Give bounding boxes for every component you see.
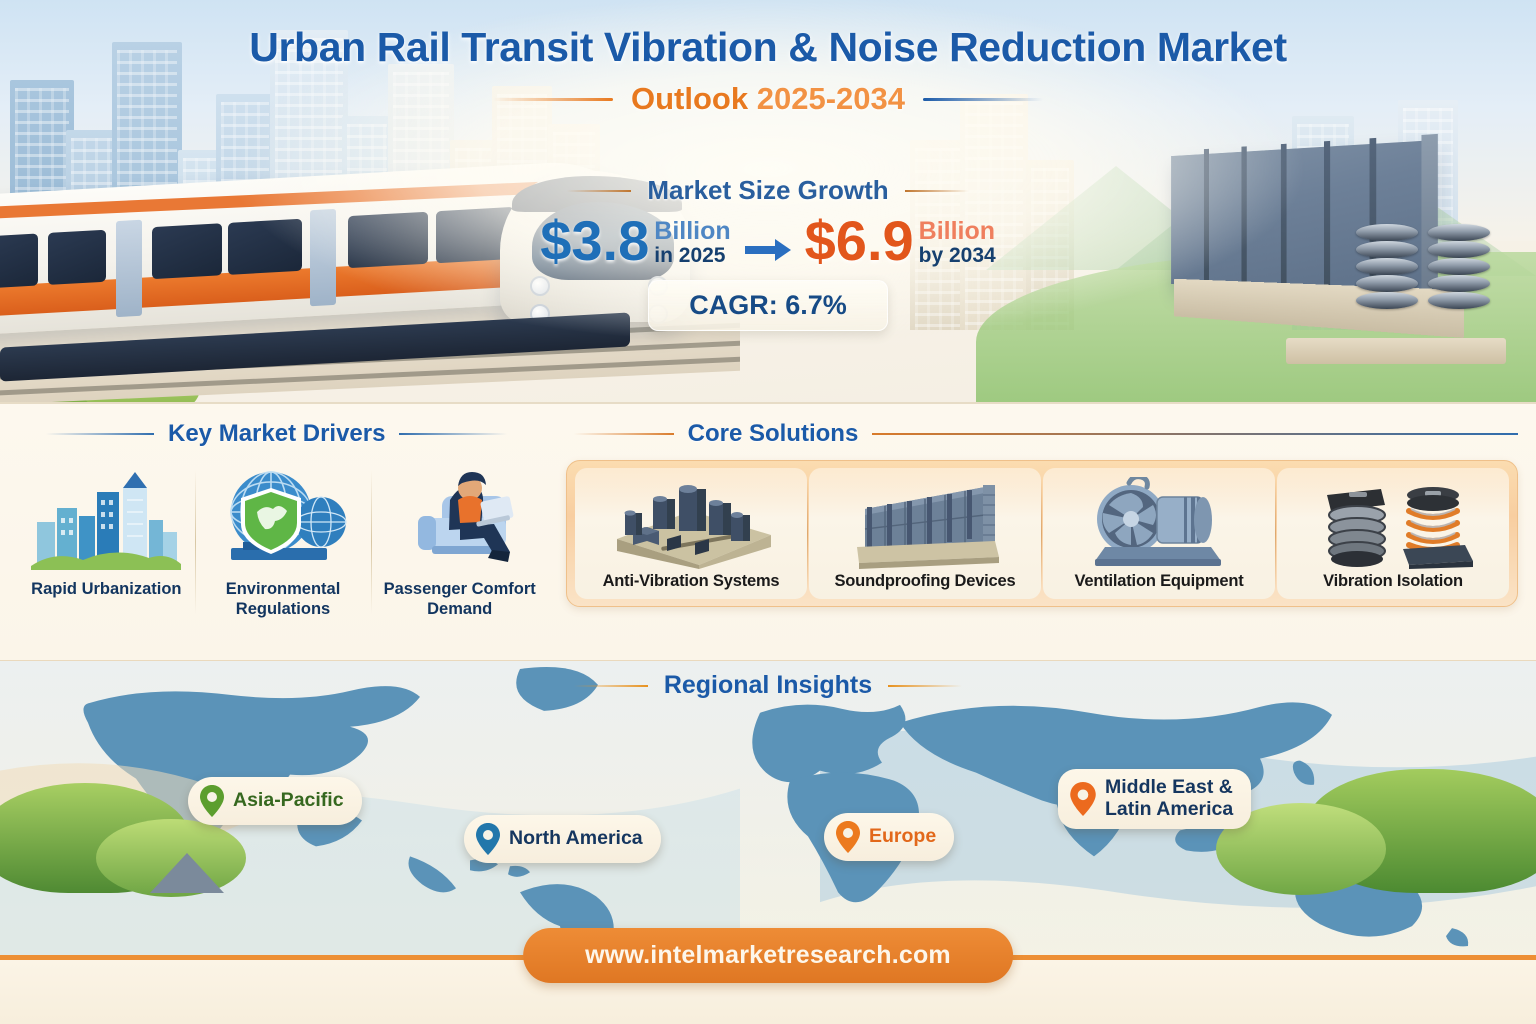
end-value: $6.9: [805, 214, 914, 267]
hero-illustration: Urban Rail Transit Vibration & Noise Red…: [0, 0, 1536, 402]
anti-vibration-pad-icon: [579, 474, 803, 572]
regional-rule-left: [574, 685, 648, 687]
map-pin-icon: [476, 823, 500, 855]
end-year: by 2034: [919, 244, 996, 268]
subtitle-rule-left: [493, 98, 613, 101]
solutions-rule-left: [574, 433, 674, 435]
solution-item-ventilation-equipment[interactable]: Ventilation Equipment: [1043, 468, 1275, 599]
market-size-growth-block: Market Size Growth $3.8 Billion in 2025: [0, 175, 1536, 331]
driver-label: Environmental Regulations: [201, 580, 366, 620]
growth-rule-left: [567, 190, 631, 192]
start-side: Billion in 2025: [654, 214, 730, 268]
region-pill-north-america[interactable]: North America: [464, 815, 661, 863]
driver-label: Passenger Comfort Demand: [377, 580, 542, 620]
cagr-badge: CAGR: 6.7%: [648, 280, 888, 331]
solutions-title: Core Solutions: [688, 420, 859, 448]
drivers-title: Key Market Drivers: [168, 420, 385, 448]
region-pill-asia-pacific[interactable]: Asia-Pacific: [188, 777, 362, 825]
map-pin-icon: [836, 821, 860, 853]
solution-label: Anti-Vibration Systems: [579, 572, 803, 591]
regional-title: Regional Insights: [664, 671, 872, 700]
start-figure: $3.8 Billion in 2025: [540, 214, 730, 268]
start-year: in 2025: [654, 244, 730, 268]
end-unit: Billion: [919, 218, 996, 244]
footer-bar: www.intelmarketresearch.com: [0, 955, 1536, 1024]
key-market-drivers-section: Key Market Drivers: [18, 420, 548, 620]
driver-item-rapid-urbanization[interactable]: Rapid Urbanization: [18, 464, 195, 620]
outlook-word: Outlook: [631, 81, 748, 116]
growth-title: Market Size Growth: [647, 175, 888, 206]
globe-shield-icon: [201, 464, 366, 570]
drivers-rule-right: [399, 433, 507, 435]
regional-rule-right: [888, 685, 962, 687]
solution-item-soundproofing-devices[interactable]: Soundproofing Devices: [809, 468, 1041, 599]
sound-barrier-wall-icon: [813, 474, 1037, 572]
region-label: Middle East & Latin America: [1105, 777, 1233, 821]
regional-insights-section: Regional Insights Asia-Pacific North Ame…: [0, 660, 1536, 955]
header-block: Urban Rail Transit Vibration & Noise Red…: [0, 24, 1536, 117]
solutions-rule-right: [872, 433, 1518, 435]
spring-isolator-icon: [1281, 474, 1505, 572]
growth-rule-right: [905, 190, 969, 192]
subtitle-row: Outlook 2025-2034: [0, 81, 1536, 117]
mid-section: Key Market Drivers: [0, 402, 1536, 660]
solution-label: Soundproofing Devices: [813, 572, 1037, 591]
region-label: North America: [509, 828, 643, 850]
region-label: Asia-Pacific: [233, 790, 344, 812]
outlook-label: Outlook 2025-2034: [631, 81, 905, 117]
website-url-button[interactable]: www.intelmarketresearch.com: [523, 928, 1013, 983]
solutions-heading-row: Core Solutions: [566, 420, 1518, 448]
seated-passenger-icon: [377, 464, 542, 570]
start-unit: Billion: [654, 218, 730, 244]
subtitle-rule-right: [923, 98, 1043, 101]
solutions-panel: Anti-Vibration Systems: [566, 460, 1518, 607]
driver-label: Rapid Urbanization: [24, 580, 189, 600]
region-pill-middle-east-latin-america[interactable]: Middle East & Latin America: [1058, 769, 1251, 829]
drivers-rule-left: [46, 433, 154, 435]
page-title: Urban Rail Transit Vibration & Noise Red…: [0, 24, 1536, 71]
driver-item-environmental-regulations[interactable]: Environmental Regulations: [195, 464, 372, 620]
growth-figures: $3.8 Billion in 2025 $6.9 Billion by 2: [0, 214, 1536, 268]
infographic-page: Urban Rail Transit Vibration & Noise Red…: [0, 0, 1536, 1024]
end-figure: $6.9 Billion by 2034: [805, 214, 996, 268]
drivers-list: Rapid Urbanization: [18, 464, 548, 620]
start-value: $3.8: [540, 214, 649, 267]
driver-item-passenger-comfort-demand[interactable]: Passenger Comfort Demand: [371, 464, 548, 620]
region-label: Europe: [869, 826, 936, 848]
solution-label: Ventilation Equipment: [1047, 572, 1271, 591]
region-pill-europe[interactable]: Europe: [824, 813, 954, 861]
arrow-right-icon: [745, 216, 791, 267]
growth-heading-row: Market Size Growth: [0, 175, 1536, 206]
city-skyline-icon: [24, 464, 189, 570]
ventilation-fan-icon: [1047, 474, 1271, 572]
solution-item-anti-vibration-systems[interactable]: Anti-Vibration Systems: [575, 468, 807, 599]
regional-heading-row: Regional Insights: [0, 671, 1536, 700]
end-side: Billion by 2034: [919, 214, 996, 268]
drivers-heading-row: Key Market Drivers: [18, 420, 548, 448]
solution-item-vibration-isolation[interactable]: Vibration Isolation: [1277, 468, 1509, 599]
map-pin-icon: [1070, 782, 1096, 816]
map-pin-icon: [200, 785, 224, 817]
outlook-years: 2025-2034: [757, 81, 905, 116]
core-solutions-section: Core Solutions: [566, 420, 1518, 607]
solution-label: Vibration Isolation: [1281, 572, 1505, 591]
